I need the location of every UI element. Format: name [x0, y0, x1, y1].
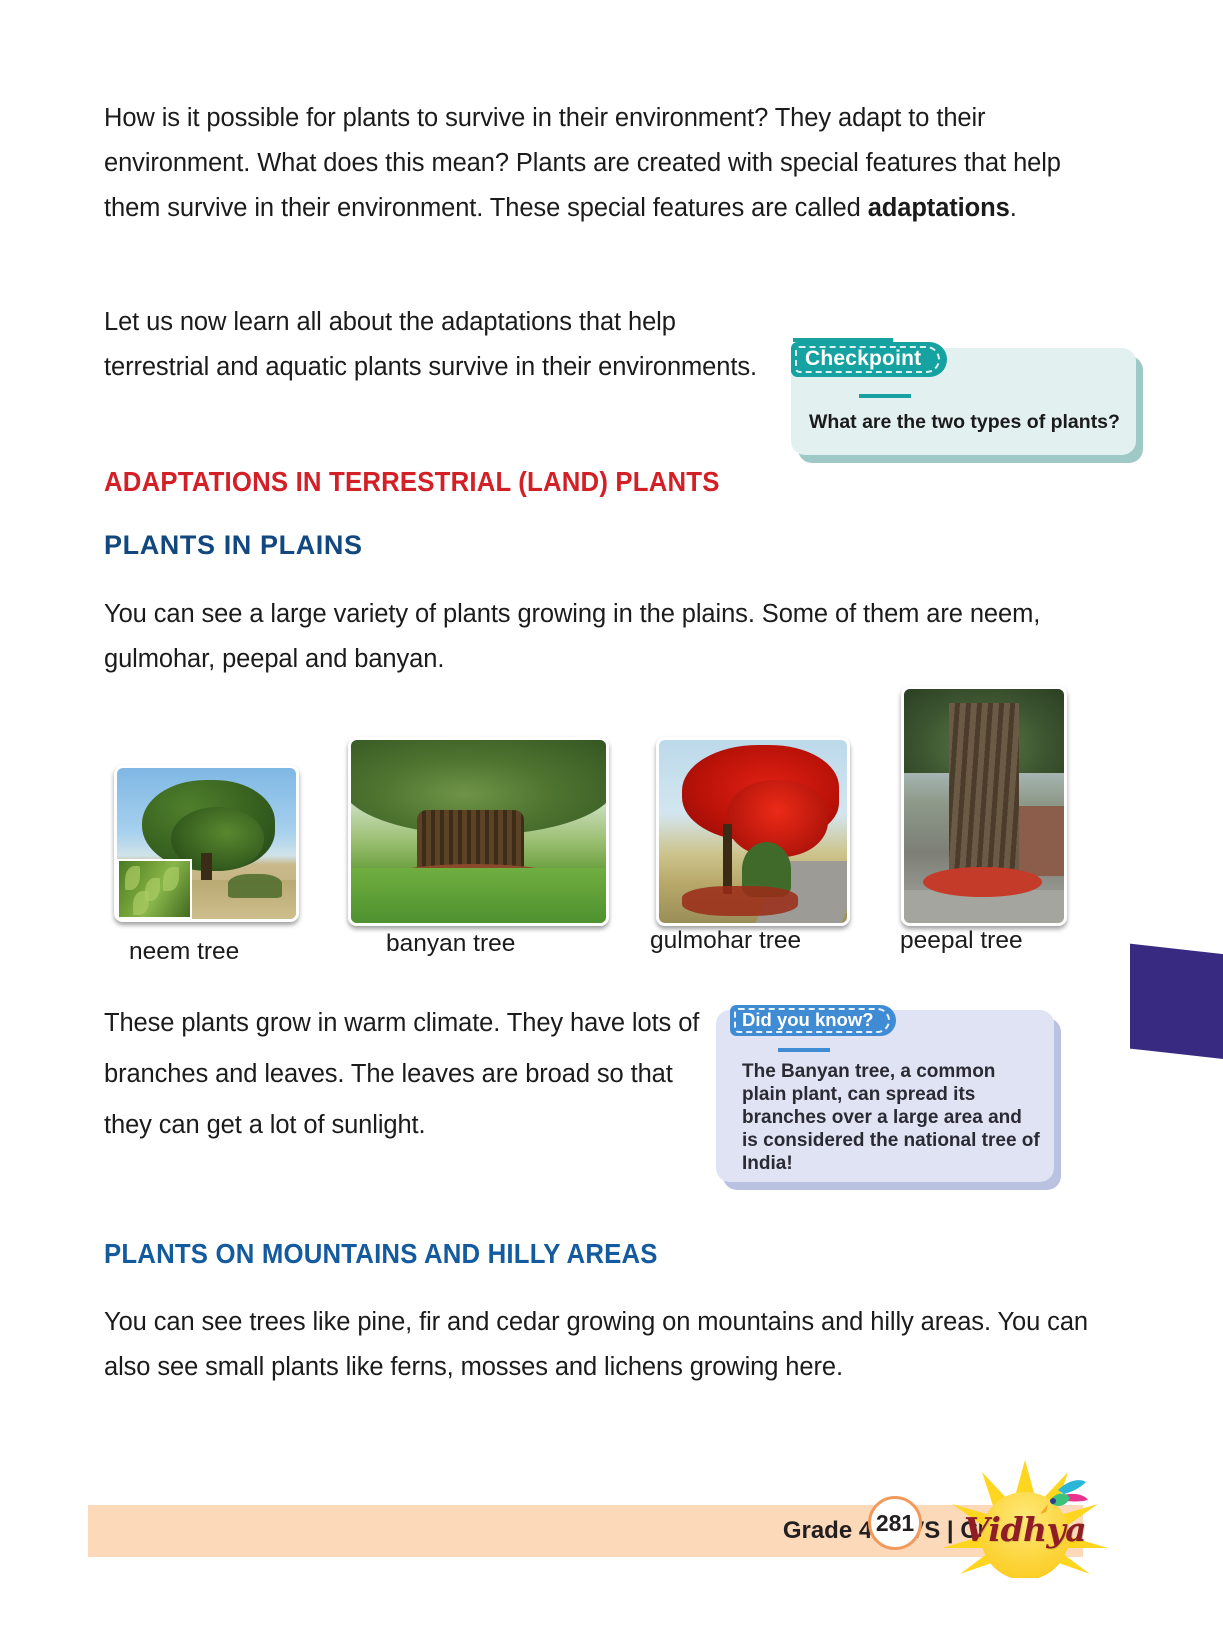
figure-image-neem-tree: [114, 765, 299, 922]
dyk-tab-accent-bottom: [778, 1048, 830, 1052]
heading-plants-on-mountains: PLANTS ON MOUNTAINS AND HILLY AREAS: [104, 1238, 658, 1270]
figure-caption-neem: neem tree: [129, 938, 239, 966]
checkpoint-tab-accent-bottom: [859, 394, 911, 398]
gulmohar-fallen-petals: [682, 886, 799, 915]
figure-caption-gulmohar: gulmohar tree: [650, 927, 801, 955]
vidhya-logo: Vidhya: [940, 1442, 1110, 1582]
figure-caption-peepal: peepal tree: [900, 927, 1023, 955]
checkpoint-tab-label: Checkpoint: [791, 342, 947, 377]
intro-paragraph-2: Let us now learn all about the adaptatio…: [104, 300, 774, 390]
neem-leaf: [125, 866, 141, 890]
mountains-paragraph: You can see trees like pine, fir and ced…: [104, 1300, 1104, 1390]
heading-plants-in-plains: PLANTS IN PLAINS: [104, 530, 363, 561]
neem-leaf: [133, 891, 149, 915]
gulmohar-trunk: [723, 824, 732, 894]
figure-image-peepal-tree: [901, 686, 1067, 926]
figure-image-gulmohar-tree: [656, 737, 850, 926]
peepal-building: [1019, 806, 1064, 876]
neem-leaf-inset: [117, 859, 192, 919]
plains-paragraph: You can see a large variety of plants gr…: [104, 592, 1104, 682]
purple-edge-tab: [1130, 940, 1223, 1062]
logo-wordmark: Vidhya: [962, 1510, 1088, 1549]
page-number: 281: [868, 1496, 922, 1550]
neem-leaf: [163, 867, 179, 891]
peepal-red-platform: [923, 867, 1041, 897]
banyan-grass: [351, 868, 606, 923]
adaptations-term: adaptations: [868, 194, 1010, 222]
checkpoint-question: What are the two types of plants?: [809, 410, 1124, 434]
checkpoint-callout: Checkpoint What are the two types of pla…: [791, 348, 1136, 458]
neem-shrub: [228, 874, 282, 898]
intro-paragraph-1: How is it possible for plants to survive…: [104, 96, 1104, 231]
figure-caption-banyan: banyan tree: [386, 930, 515, 958]
dyk-tab-label: Did you know?: [730, 1005, 896, 1036]
intro-paragraph-1-period: .: [1010, 194, 1017, 222]
dyk-text: The Banyan tree, a common plain plant, c…: [742, 1060, 1042, 1175]
heading-adaptations-terrestrial: ADAPTATIONS IN TERRESTRIAL (LAND) PLANTS: [104, 466, 720, 498]
did-you-know-callout: Did you know? The Banyan tree, a common …: [716, 1010, 1054, 1185]
figure-image-banyan-tree: [348, 737, 609, 926]
warm-climate-paragraph: These plants grow in warm climate. They …: [104, 998, 704, 1151]
